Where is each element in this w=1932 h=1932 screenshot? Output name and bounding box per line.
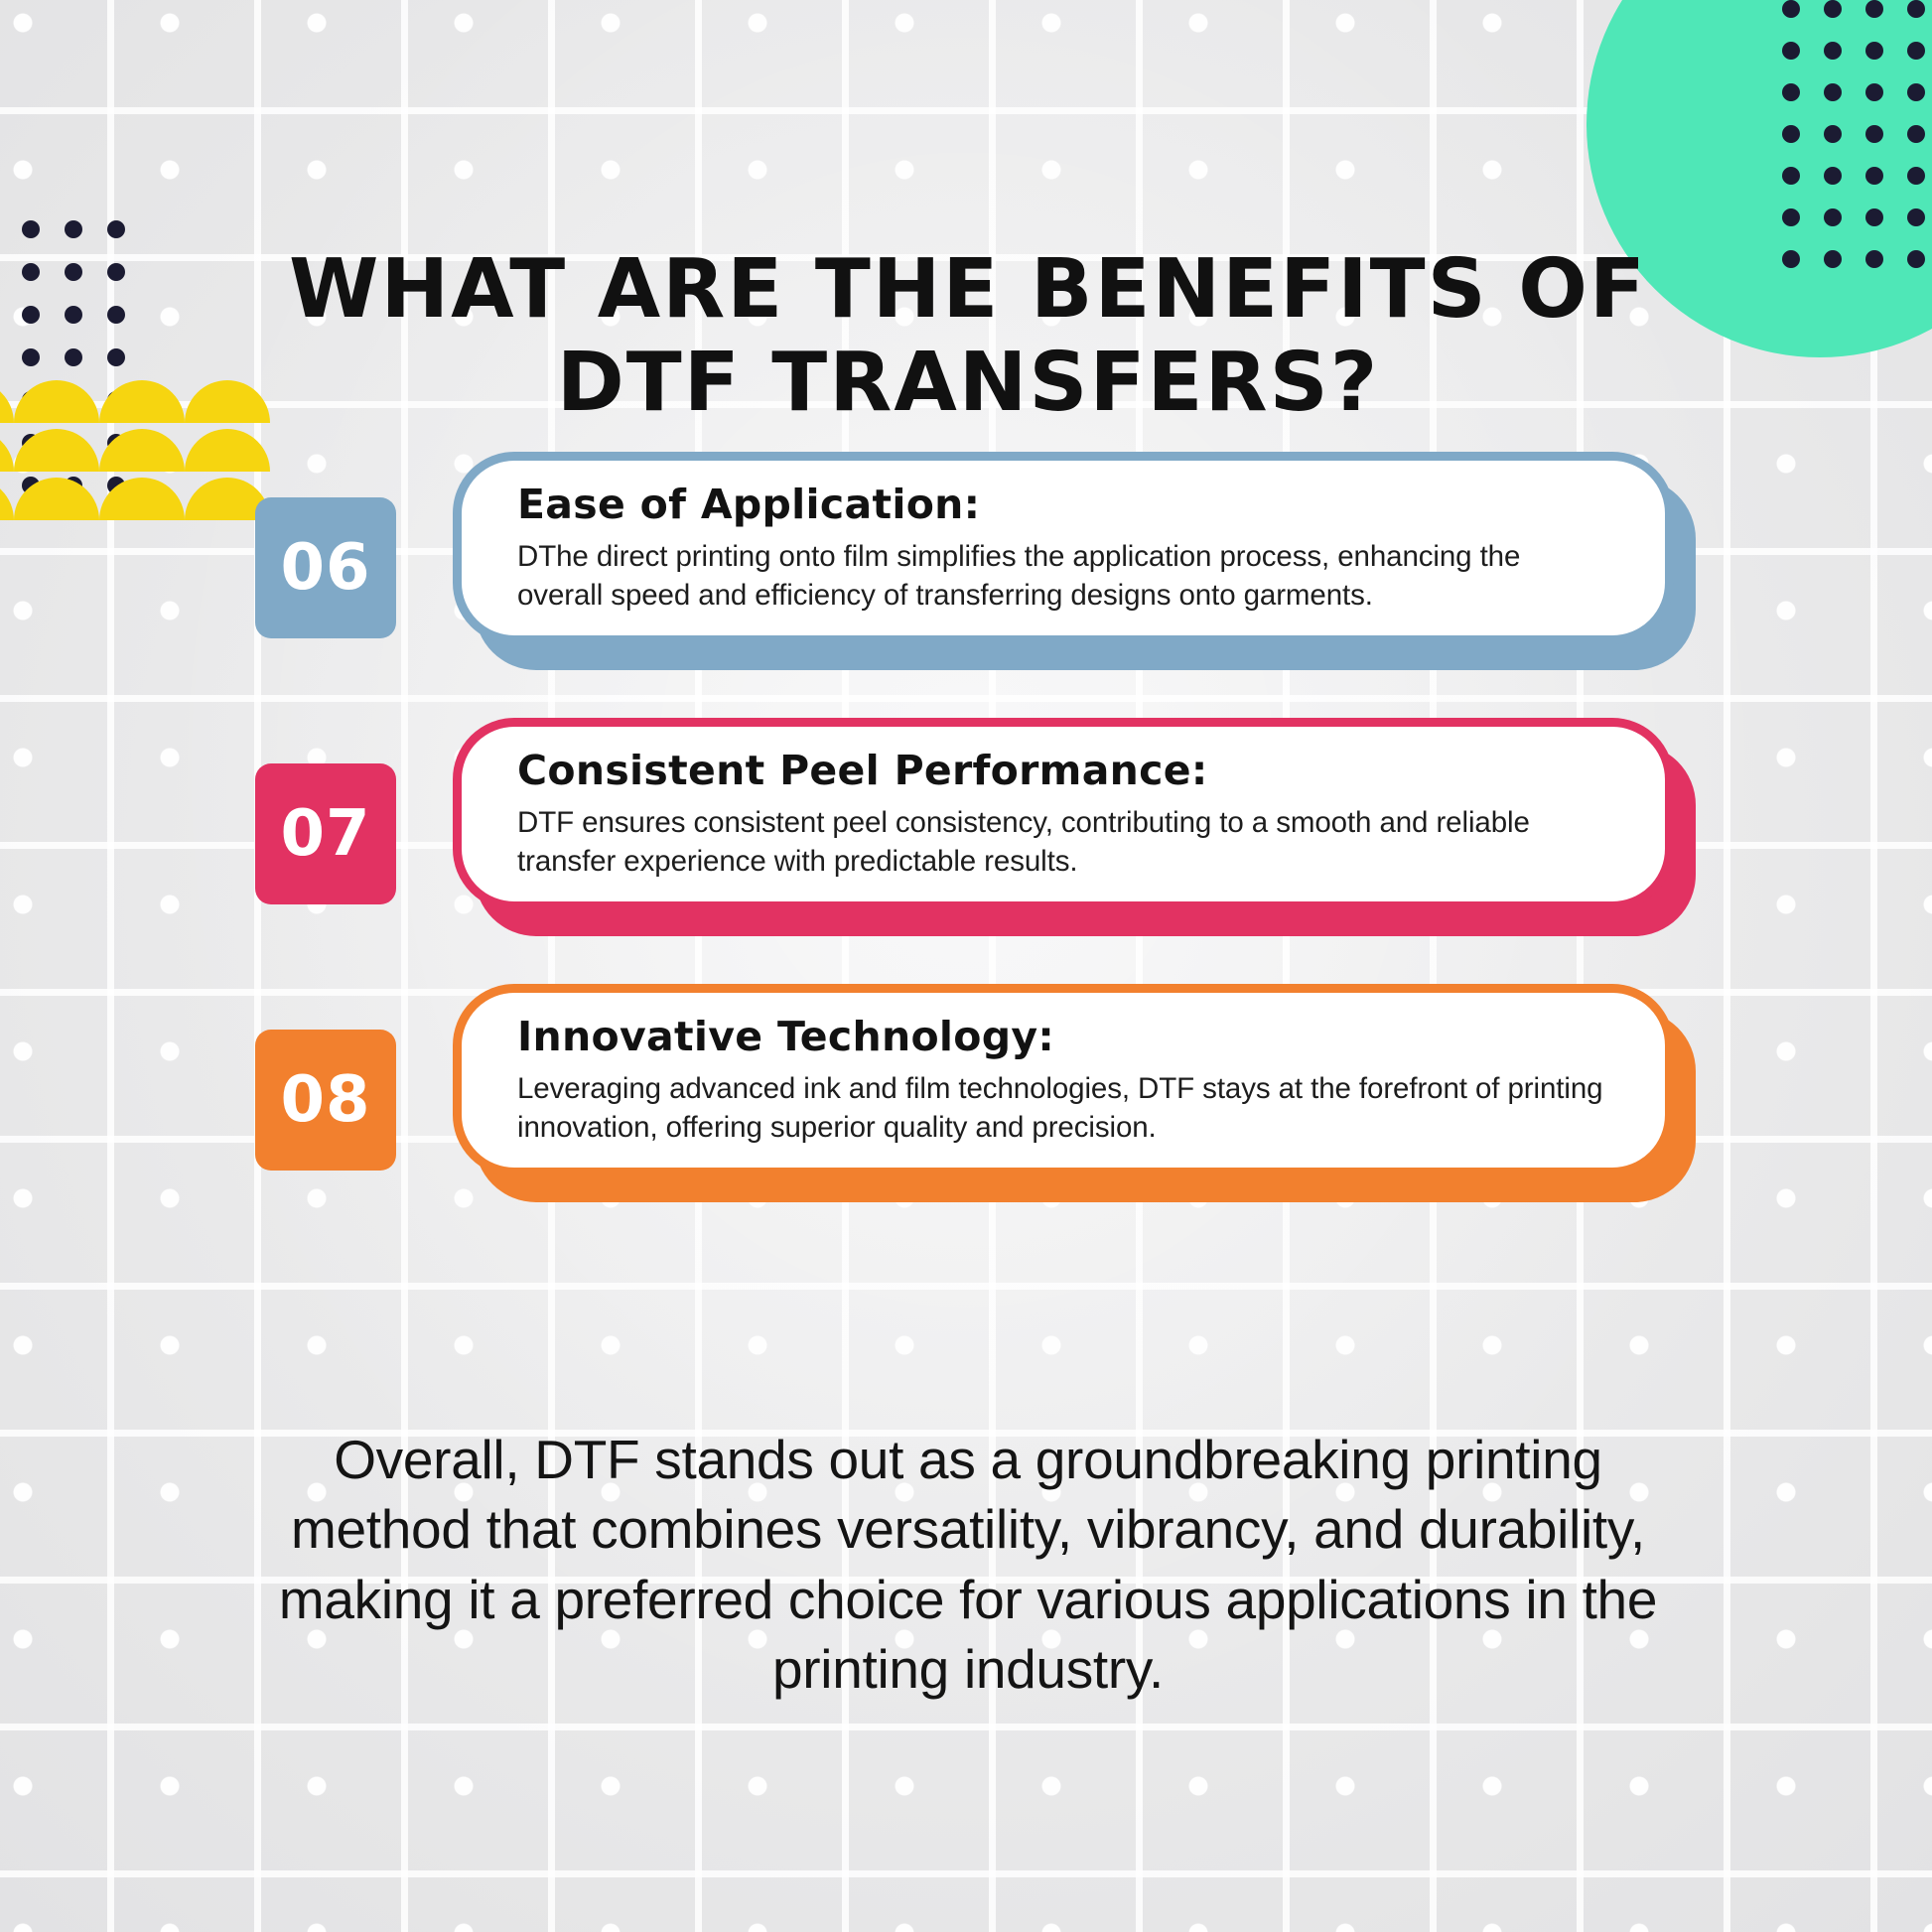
card-number-badge: 06 <box>255 497 396 638</box>
page-title: WHAT ARE THE BENEFITS OF DTF TRANSFERS? <box>223 243 1713 431</box>
content-root: WHAT ARE THE BENEFITS OF DTF TRANSFERS? … <box>0 0 1932 1932</box>
benefit-card[interactable]: Innovative Technology: Leveraging advanc… <box>453 984 1674 1176</box>
benefit-card-row: Ease of Application: DThe direct printin… <box>0 452 1932 713</box>
card-body: DTF ensures consistent peel consistency,… <box>517 803 1613 881</box>
card-number-label: 07 <box>280 797 370 871</box>
card-number-badge: 07 <box>255 763 396 904</box>
card-title: Innovative Technology: <box>517 1015 1613 1059</box>
card-number-label: 08 <box>280 1063 370 1137</box>
card-number-badge: 08 <box>255 1030 396 1171</box>
card-title: Ease of Application: <box>517 483 1613 527</box>
benefit-card[interactable]: Ease of Application: DThe direct printin… <box>453 452 1674 644</box>
card-title: Consistent Peel Performance: <box>517 749 1613 793</box>
card-number-label: 06 <box>280 531 370 605</box>
summary-paragraph: Overall, DTF stands out as a groundbreak… <box>238 1425 1698 1705</box>
benefit-card-row: Consistent Peel Performance: DTF ensures… <box>0 718 1932 979</box>
card-body: DThe direct printing onto film simplifie… <box>517 537 1613 615</box>
card-body: Leveraging advanced ink and film technol… <box>517 1069 1613 1147</box>
benefit-card-row: Innovative Technology: Leveraging advanc… <box>0 984 1932 1245</box>
benefit-card[interactable]: Consistent Peel Performance: DTF ensures… <box>453 718 1674 910</box>
